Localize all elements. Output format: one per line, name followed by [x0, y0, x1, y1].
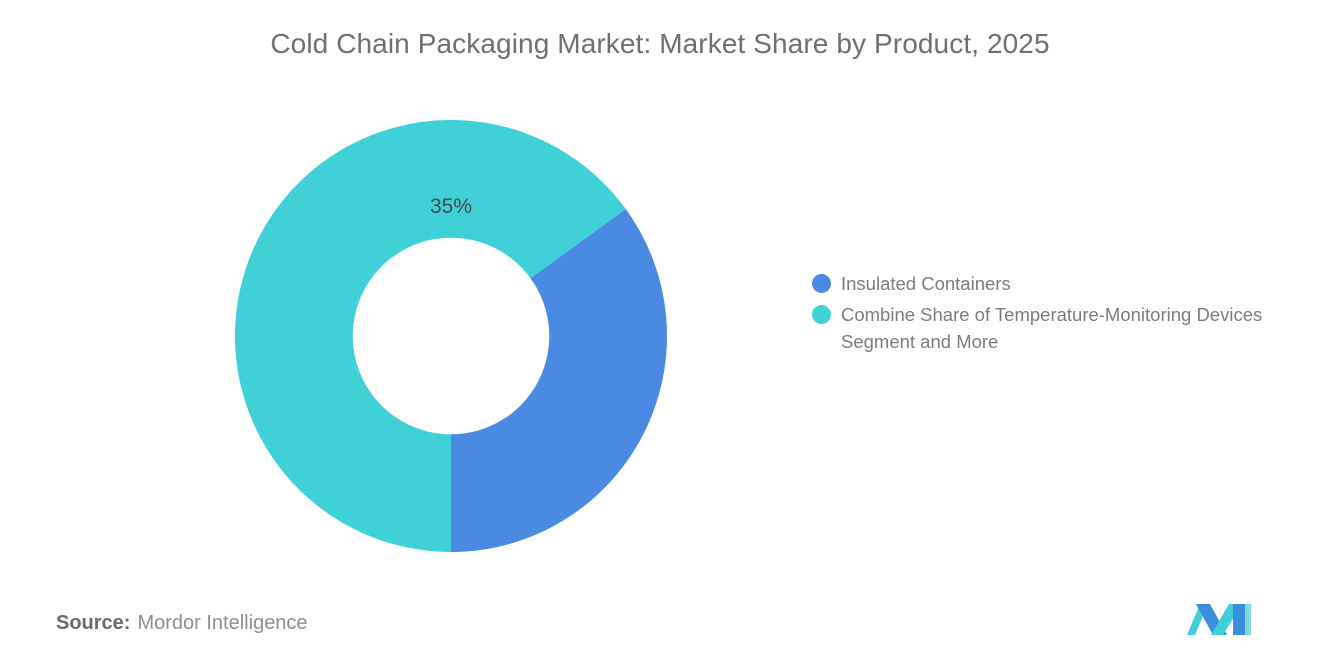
legend-label-insulated-containers: Insulated Containers: [841, 270, 1011, 297]
legend-item-insulated-containers[interactable]: Insulated Containers: [812, 270, 1292, 297]
mordor-intelligence-logo-icon: [1186, 598, 1252, 636]
legend-swatch-icon-combine-share: [812, 305, 831, 324]
legend-item-combine-share[interactable]: Combine Share of Temperature-Monitoring …: [812, 301, 1292, 355]
legend-label-combine-share: Combine Share of Temperature-Monitoring …: [841, 301, 1281, 355]
source-line: Source:Mordor Intelligence: [56, 612, 308, 635]
donut-slices: [235, 120, 667, 552]
donut-chart-svg: [235, 120, 667, 552]
source-prefix-label: Source:: [56, 612, 130, 634]
legend-swatch-icon-insulated-containers: [812, 274, 831, 293]
chart-legend: Insulated Containers Combine Share of Te…: [812, 270, 1292, 359]
source-value-label: Mordor Intelligence: [137, 612, 307, 634]
logo-svg: [1186, 598, 1252, 636]
donut-chart: [235, 120, 667, 552]
donut-slice-insulated-containers[interactable]: [451, 209, 667, 552]
page-title: Cold Chain Packaging Market: Market Shar…: [0, 28, 1320, 60]
